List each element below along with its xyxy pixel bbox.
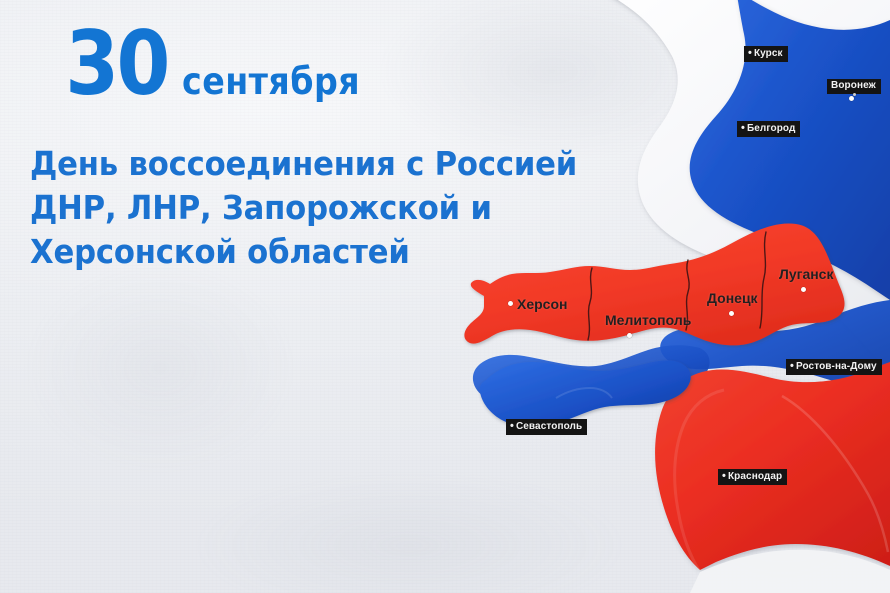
- city-label-text: Мелитополь: [605, 312, 691, 328]
- city-point-icon: •: [748, 47, 752, 59]
- city-point-icon: [849, 96, 854, 101]
- city-label-5: Мелитополь: [605, 313, 691, 329]
- city-label-3: Луганск: [779, 267, 833, 283]
- city-label-text: Севастополь: [516, 421, 582, 432]
- city-label-text: Краснодар: [728, 471, 782, 482]
- city-label-text: Воронеж: [831, 80, 876, 91]
- city-label-plate: •Севастополь: [506, 419, 587, 435]
- city-point-icon: •: [722, 470, 726, 482]
- city-point-icon: [853, 93, 856, 96]
- poster-canvas: 30 сентября День воссоединения с Россией…: [0, 0, 890, 593]
- city-label-plate: •Краснодар: [718, 469, 787, 485]
- city-label-text: Херсон: [517, 296, 567, 312]
- city-point-icon: [627, 333, 632, 338]
- city-point-icon: [508, 301, 513, 306]
- date-month: сентября: [182, 60, 360, 103]
- city-point-icon: •: [741, 122, 745, 134]
- city-label-plate: •Ростов-на-Дому: [786, 359, 882, 375]
- city-label-1: Воронеж: [827, 76, 881, 94]
- headline-block: 30 сентября День воссоединения с Россией…: [30, 22, 710, 274]
- city-label-plate: •Белгород: [737, 121, 800, 137]
- city-point-icon: [729, 311, 734, 316]
- date-number: 30: [30, 22, 168, 106]
- city-label-text: Белгород: [747, 123, 795, 134]
- city-label-7: •Ростов-на-Дому: [786, 357, 882, 375]
- city-point-icon: •: [790, 360, 794, 372]
- dateline: 30 сентября: [30, 22, 710, 114]
- title-line-3: Херсонской областей: [30, 230, 662, 274]
- city-label-text: Луганск: [779, 266, 833, 282]
- title-block: День воссоединения с Россией ДНР, ЛНР, З…: [30, 142, 710, 274]
- city-label-4: Донецк: [707, 291, 758, 307]
- city-label-text: Донецк: [707, 290, 758, 306]
- city-label-9: •Краснодар: [718, 467, 787, 485]
- title-line-2: ДНР, ЛНР, Запорожской и: [30, 186, 662, 230]
- city-label-0: •Курск: [744, 44, 788, 62]
- city-label-8: •Севастополь: [506, 417, 587, 435]
- city-label-6: Херсон: [517, 297, 567, 313]
- city-point-icon: [801, 287, 806, 292]
- title-line-1: День воссоединения с Россией: [30, 142, 662, 186]
- city-label-2: •Белгород: [737, 119, 800, 137]
- city-label-plate: Воронеж: [827, 79, 881, 94]
- city-label-text: Курск: [754, 48, 783, 59]
- city-label-plate: •Курск: [744, 46, 788, 62]
- city-label-text: Ростов-на-Дому: [796, 361, 877, 372]
- city-point-icon: •: [510, 420, 514, 432]
